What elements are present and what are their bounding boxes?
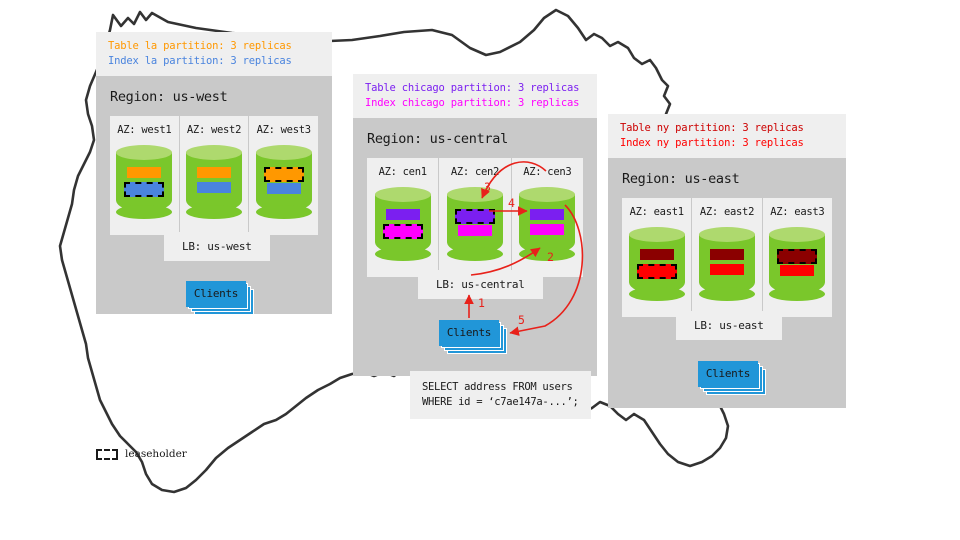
az-cell-west1[interactable]: AZ: west1 — [110, 116, 180, 235]
replica-table — [640, 249, 674, 260]
az-cell-east2[interactable]: AZ: east2 — [692, 198, 762, 317]
replica-bars — [186, 167, 242, 197]
clients-label: Clients — [186, 281, 246, 307]
cylinder-top — [375, 187, 431, 202]
diagram-canvas: Table la partition: 3 replicas Index la … — [0, 0, 960, 540]
replica-table-leaseholder — [455, 209, 495, 224]
sql-line-2: WHERE id = ‘c7ae147a-...’; — [422, 396, 579, 408]
node-east3[interactable] — [769, 227, 825, 301]
az-cell-cen1[interactable]: AZ: cen1 — [367, 158, 439, 277]
az-row-us-east: AZ: east1 AZ: east2 — [622, 198, 832, 317]
callout-table-line: Table la partition: 3 replicas — [108, 39, 322, 54]
replica-table — [710, 249, 744, 260]
callout-index-line: Index chicago partition: 3 replicas — [365, 96, 587, 111]
replica-table-leaseholder — [264, 167, 304, 182]
callout-us-west: Table la partition: 3 replicas Index la … — [96, 32, 332, 76]
clients-us-west[interactable]: Clients — [186, 281, 246, 307]
cylinder-top — [447, 187, 503, 202]
arrow-label-4: 4 — [508, 196, 515, 210]
callout-table-line: Table chicago partition: 3 replicas — [365, 81, 587, 96]
node-west3[interactable] — [256, 145, 312, 219]
replica-index-leaseholder — [383, 224, 423, 239]
replica-table — [530, 209, 564, 220]
replica-index — [710, 264, 744, 275]
lb-us-east[interactable]: LB: us-east — [676, 311, 782, 340]
replica-bars — [769, 249, 825, 280]
az-row-us-west: AZ: west1 AZ: west2 — [110, 116, 318, 235]
replica-index-leaseholder — [124, 182, 164, 197]
leaseholder-legend-label: leaseholder — [125, 448, 187, 460]
region-title-us-central: Region: us-central — [353, 118, 597, 158]
az-label-cen2: AZ: cen2 — [439, 166, 510, 178]
az-cell-cen2[interactable]: AZ: cen2 — [439, 158, 511, 277]
clients-label: Clients — [439, 320, 499, 346]
region-title-us-east: Region: us-east — [608, 158, 846, 198]
replica-index — [780, 265, 814, 276]
callout-us-east: Table ny partition: 3 replicas Index ny … — [608, 114, 846, 158]
replica-table — [197, 167, 231, 178]
node-west1[interactable] — [116, 145, 172, 219]
lb-us-west[interactable]: LB: us-west — [164, 232, 270, 261]
clients-us-central[interactable]: Clients — [439, 320, 499, 346]
az-label-east2: AZ: east2 — [692, 206, 761, 218]
node-east1[interactable] — [629, 227, 685, 301]
replica-index-leaseholder — [637, 264, 677, 279]
az-label-cen3: AZ: cen3 — [512, 166, 583, 178]
leaseholder-legend: leaseholder — [96, 448, 187, 460]
replica-index — [197, 182, 231, 193]
replica-index — [267, 183, 301, 194]
cylinder-top — [769, 227, 825, 242]
arrow-label-3: 3 — [484, 180, 491, 194]
callout-index-line: Index ny partition: 3 replicas — [620, 136, 836, 151]
replica-bars — [447, 209, 503, 240]
replica-table-leaseholder — [777, 249, 817, 264]
arrow-label-1: 1 — [478, 296, 485, 310]
sql-line-1: SELECT address FROM users — [422, 381, 573, 393]
cylinder-top — [256, 145, 312, 160]
replica-table — [386, 209, 420, 220]
region-body-us-west: Region: us-west AZ: west1 AZ: west2 — [96, 76, 332, 314]
node-cen2[interactable] — [447, 187, 503, 261]
az-label-east1: AZ: east1 — [622, 206, 691, 218]
cylinder-top — [519, 187, 575, 202]
az-label-east3: AZ: east3 — [763, 206, 832, 218]
sql-query-box: SELECT address FROM users WHERE id = ‘c7… — [410, 371, 591, 419]
cylinder-top — [116, 145, 172, 160]
cylinder-top — [699, 227, 755, 242]
az-cell-west3[interactable]: AZ: west3 — [249, 116, 318, 235]
az-label-west3: AZ: west3 — [249, 124, 318, 136]
node-west2[interactable] — [186, 145, 242, 219]
replica-table — [127, 167, 161, 178]
region-title-us-west: Region: us-west — [96, 76, 332, 116]
az-cell-east3[interactable]: AZ: east3 — [763, 198, 832, 317]
replica-bars — [375, 209, 431, 240]
az-cell-west2[interactable]: AZ: west2 — [180, 116, 250, 235]
callout-index-line: Index la partition: 3 replicas — [108, 54, 322, 69]
clients-label: Clients — [698, 361, 758, 387]
replica-bars — [519, 209, 575, 239]
az-label-west1: AZ: west1 — [110, 124, 179, 136]
replica-bars — [116, 167, 172, 198]
az-label-west2: AZ: west2 — [180, 124, 249, 136]
cylinder-top — [629, 227, 685, 242]
lb-us-central[interactable]: LB: us-central — [418, 270, 543, 299]
arrow-label-2: 2 — [547, 250, 554, 264]
cylinder-top — [186, 145, 242, 160]
replica-index — [530, 224, 564, 235]
callout-table-line: Table ny partition: 3 replicas — [620, 121, 836, 136]
replica-bars — [629, 249, 685, 280]
node-east2[interactable] — [699, 227, 755, 301]
replica-bars — [699, 249, 755, 279]
clients-us-east[interactable]: Clients — [698, 361, 758, 387]
node-cen1[interactable] — [375, 187, 431, 261]
region-us-west: Table la partition: 3 replicas Index la … — [96, 32, 332, 314]
replica-bars — [256, 167, 312, 198]
callout-us-central: Table chicago partition: 3 replicas Inde… — [353, 74, 597, 118]
replica-index — [458, 225, 492, 236]
leaseholder-swatch-icon — [96, 449, 118, 460]
az-cell-east1[interactable]: AZ: east1 — [622, 198, 692, 317]
arrow-label-5: 5 — [518, 313, 525, 327]
az-label-cen1: AZ: cen1 — [367, 166, 438, 178]
